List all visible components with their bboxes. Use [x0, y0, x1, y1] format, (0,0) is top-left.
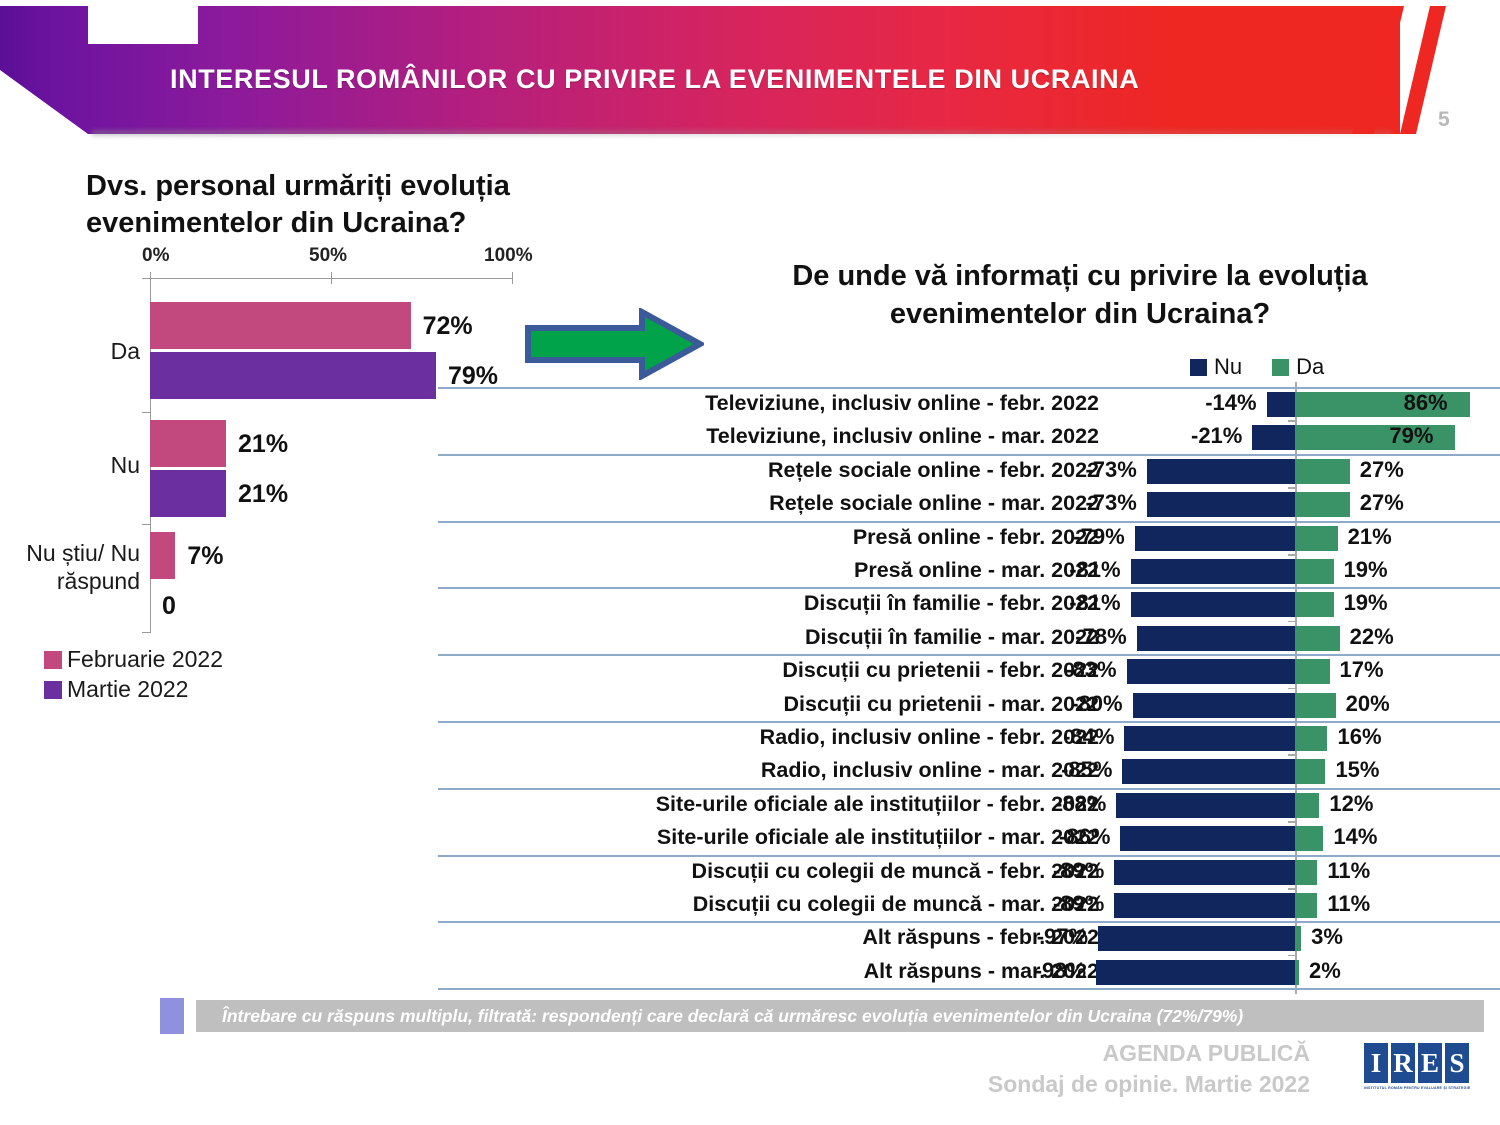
legend-label: Februarie 2022 [67, 646, 223, 673]
value-nu: -81% [1039, 557, 1121, 583]
left-chart-axis-tick-mark [331, 272, 332, 284]
bar-da [1295, 626, 1340, 651]
row-group-separator [438, 855, 1500, 857]
ires-logo-letter: R [1391, 1043, 1415, 1083]
value-nu: -80% [1041, 691, 1123, 717]
left-chart-legend-item: Martie 2022 [44, 676, 223, 703]
row-group-separator [438, 521, 1500, 523]
right-chart: De unde vă informați cu privire la evolu… [430, 258, 1500, 998]
bar-da [1295, 526, 1338, 551]
value-nu: -88% [1024, 791, 1106, 817]
right-chart-plot: Televiziune, inclusiv online - febr. 202… [430, 388, 1500, 988]
banner-shadow [92, 130, 1392, 136]
left-chart-legend-item: Februarie 2022 [44, 646, 223, 673]
value-da: 20% [1346, 691, 1390, 717]
ires-logo-letter: I [1364, 1043, 1388, 1083]
value-nu: -73% [1055, 490, 1137, 516]
value-da: 12% [1329, 791, 1373, 817]
table-row: Site-urile oficiale ale instituțiilor - … [430, 789, 1500, 822]
page-number: 5 [1438, 108, 1450, 132]
value-da: 86% [1404, 390, 1448, 416]
value-da: 2% [1309, 958, 1341, 984]
ires-logo: INSTITUTUL ROMÂN PENTRU EVALUARE ȘI STRA… [1364, 1043, 1476, 1095]
left-chart-bar [150, 352, 436, 399]
row-group-separator [438, 654, 1500, 656]
value-nu: -81% [1039, 590, 1121, 616]
value-nu: -85% [1030, 757, 1112, 783]
left-chart-category-label: Nu [5, 452, 140, 480]
value-da: 79% [1389, 423, 1433, 449]
value-da: 3% [1311, 924, 1343, 950]
value-da: 19% [1344, 590, 1388, 616]
slide-title: INTERESUL ROMÂNILOR CU PRIVIRE LA EVENIM… [170, 64, 1139, 95]
left-chart-legend: Februarie 2022Martie 2022 [44, 646, 223, 706]
table-row: Presă online - mar. 2022-81%19% [430, 555, 1500, 588]
bar-da [1295, 592, 1334, 617]
table-row: Rețele sociale online - mar. 2022-73%27% [430, 488, 1500, 521]
value-da: 15% [1335, 757, 1379, 783]
left-chart-category-label: Nu știu/ Nu răspund [5, 540, 140, 595]
bar-nu [1147, 492, 1295, 517]
left-chart-bar-value: 21% [238, 430, 288, 459]
legend-swatch [44, 681, 62, 699]
bar-nu [1133, 693, 1295, 718]
bar-nu [1098, 926, 1295, 951]
value-nu: -21% [1160, 423, 1242, 449]
ires-logo-letter: S [1445, 1043, 1469, 1083]
bar-da [1295, 960, 1299, 985]
legend-label: Martie 2022 [67, 676, 188, 703]
row-group-separator [438, 788, 1500, 790]
left-chart-title: Dvs. personal urmăriți evoluția evenimen… [86, 168, 606, 242]
table-row: Alt răspuns - febr. 2022-97%3% [430, 922, 1500, 955]
footer-brand: AGENDA PUBLICĂ Sondaj de opinie. Martie … [930, 1038, 1310, 1100]
ires-logo-letter: E [1418, 1043, 1442, 1083]
bar-da [1295, 559, 1334, 584]
left-chart-bar [150, 470, 226, 517]
value-da: 19% [1344, 557, 1388, 583]
row-group-separator [438, 921, 1500, 923]
value-nu: -97% [1006, 924, 1088, 950]
table-row: Discuții în familie - febr. 2022-81%19% [430, 588, 1500, 621]
value-nu: -89% [1022, 858, 1104, 884]
footnote-accent-chip [160, 998, 184, 1034]
row-group-separator [438, 387, 1500, 389]
table-row: Discuții cu colegii de muncă - febr. 202… [430, 856, 1500, 889]
bar-nu [1116, 793, 1295, 818]
value-nu: -86% [1028, 824, 1110, 850]
left-chart-bar [150, 420, 226, 467]
bar-da [1295, 793, 1319, 818]
row-group-separator [438, 988, 1500, 990]
value-da: 11% [1327, 891, 1370, 917]
left-chart-bar-value: 7% [187, 542, 223, 571]
left-chart-bar-value: 21% [238, 480, 288, 509]
value-da: 14% [1333, 824, 1377, 850]
footnote-bar: Întrebare cu răspuns multiplu, filtrată:… [196, 1000, 1484, 1032]
footnote-text: Întrebare cu răspuns multiplu, filtrată:… [196, 1006, 1243, 1027]
bar-da [1295, 693, 1336, 718]
value-nu: -98% [1004, 958, 1086, 984]
bar-nu [1252, 425, 1295, 450]
bar-nu [1135, 526, 1295, 551]
left-chart-category-label: Da [5, 338, 140, 366]
left-chart-category-tick [142, 632, 151, 633]
value-da: 17% [1340, 657, 1384, 683]
bar-da [1295, 759, 1325, 784]
left-chart-xtick: 0% [142, 245, 169, 267]
left-chart-bar-value: 0 [162, 592, 176, 621]
table-row: Radio, inclusiv online - febr. 2022-84%1… [430, 722, 1500, 755]
value-nu: -78% [1045, 624, 1127, 650]
legend-label: Nu [1214, 354, 1242, 380]
table-row: Televiziune, inclusiv online - febr. 202… [430, 388, 1500, 421]
bar-da [1295, 926, 1301, 951]
bar-da [1295, 492, 1350, 517]
row-group-separator [438, 454, 1500, 456]
table-row: Alt răspuns - mar. 2022-98%2% [430, 956, 1500, 989]
value-nu: -84% [1032, 724, 1114, 750]
row-label: Televiziune, inclusiv online - febr. 202… [705, 391, 1099, 416]
value-nu: -83% [1035, 657, 1117, 683]
legend-swatch [44, 651, 62, 669]
value-da: 27% [1360, 490, 1404, 516]
bar-nu [1122, 759, 1295, 784]
row-group-separator [438, 721, 1500, 723]
row-label: Rețele sociale online - febr. 2022 [768, 458, 1099, 483]
bar-da [1295, 659, 1330, 684]
bar-nu [1096, 960, 1295, 985]
bar-nu [1267, 392, 1295, 417]
right-chart-legend-item: Nu [1190, 354, 1242, 380]
value-nu: -14% [1175, 390, 1257, 416]
bar-da [1295, 726, 1327, 751]
right-chart-legend: NuDa [1190, 354, 1324, 380]
banner-notch [88, 0, 198, 44]
table-row: Radio, inclusiv online - mar. 2022-85%15… [430, 755, 1500, 788]
legend-swatch [1190, 359, 1207, 376]
table-row: Site-urile oficiale ale instituțiilor - … [430, 822, 1500, 855]
bar-nu [1114, 893, 1295, 918]
value-da: 22% [1350, 624, 1394, 650]
right-chart-title: De unde vă informați cu privire la evolu… [730, 258, 1430, 333]
table-row: Televiziune, inclusiv online - mar. 2022… [430, 421, 1500, 454]
ires-logo-subtitle: INSTITUTUL ROMÂN PENTRU EVALUARE ȘI STRA… [1364, 1086, 1476, 1093]
table-row: Discuții cu colegii de muncă - mar. 2022… [430, 889, 1500, 922]
left-chart-category-tick [142, 412, 151, 413]
row-label: Televiziune, inclusiv online - mar. 2022 [706, 424, 1099, 449]
value-nu: -79% [1043, 524, 1125, 550]
bar-nu [1137, 626, 1295, 651]
right-chart-legend-item: Da [1272, 354, 1324, 380]
left-chart-bar [150, 302, 411, 349]
bar-nu [1124, 726, 1295, 751]
bar-nu [1127, 659, 1295, 684]
legend-swatch [1272, 359, 1289, 376]
row-label: Rețele sociale online - mar. 2022 [769, 491, 1099, 516]
bar-nu [1114, 860, 1295, 885]
footer-brand-line2: Sondaj de opinie. Martie 2022 [930, 1069, 1310, 1100]
table-row: Discuții în familie - mar. 2022-78%22% [430, 622, 1500, 655]
left-chart-bar [150, 532, 175, 579]
bar-nu [1131, 559, 1295, 584]
bar-da [1295, 826, 1323, 851]
value-da: 11% [1327, 858, 1370, 884]
value-da: 27% [1360, 457, 1404, 483]
left-chart-category-tick [142, 524, 151, 525]
row-group-separator [438, 587, 1500, 589]
left-chart-xtick: 50% [309, 245, 347, 267]
bar-nu [1120, 826, 1295, 851]
value-da: 21% [1348, 524, 1392, 550]
table-row: Presă online - febr. 2022-79%21% [430, 522, 1500, 555]
legend-label: Da [1296, 354, 1324, 380]
bar-nu [1131, 592, 1295, 617]
value-nu: -89% [1022, 891, 1104, 917]
bar-nu [1147, 459, 1295, 484]
value-nu: -73% [1055, 457, 1137, 483]
left-chart-category-tick [142, 278, 151, 279]
value-da: 16% [1337, 724, 1381, 750]
bar-da [1295, 860, 1317, 885]
bar-da [1295, 893, 1317, 918]
header-banner: INTERESUL ROMÂNILOR CU PRIVIRE LA EVENIM… [0, 0, 1500, 150]
table-row: Discuții cu prietenii - febr. 2022-83%17… [430, 655, 1500, 688]
bar-da [1295, 459, 1350, 484]
table-row: Discuții cu prietenii - mar. 2022-80%20% [430, 689, 1500, 722]
footer-brand-line1: AGENDA PUBLICĂ [930, 1038, 1310, 1069]
table-row: Rețele sociale online - febr. 2022-73%27… [430, 455, 1500, 488]
